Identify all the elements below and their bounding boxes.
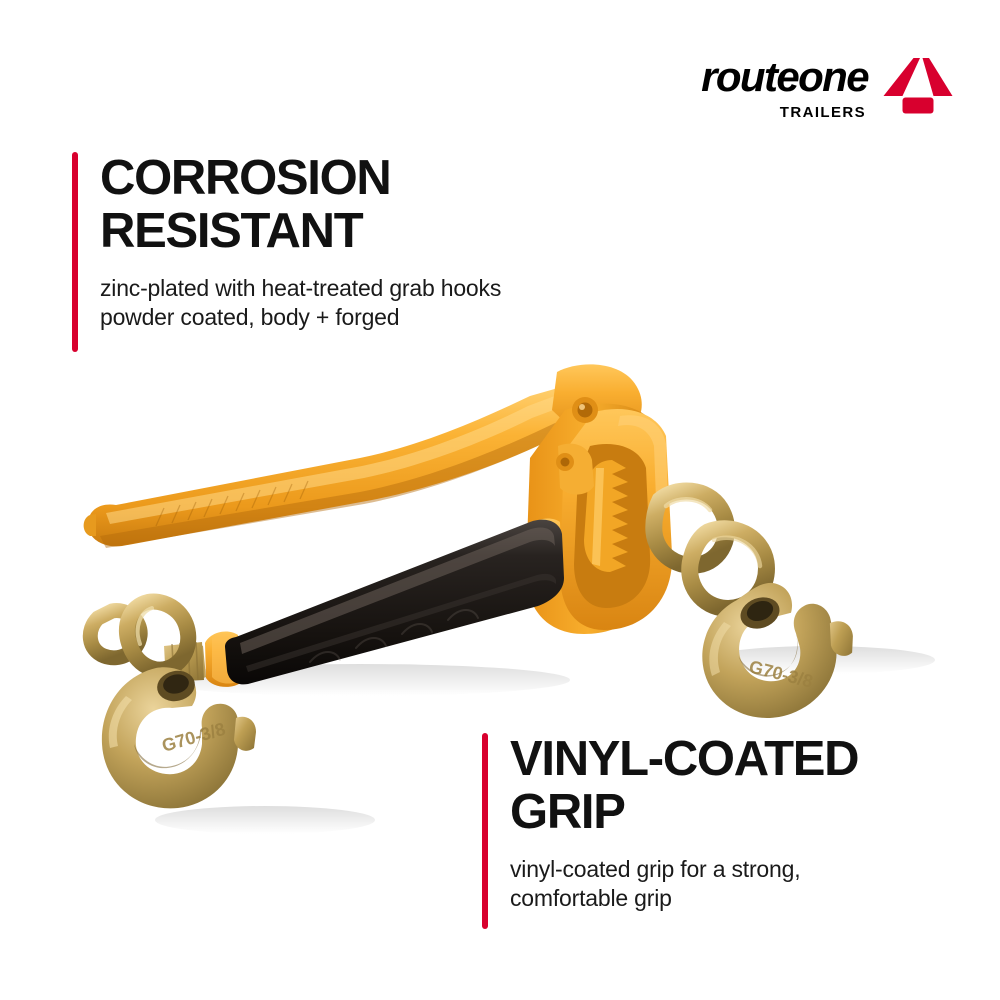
vinyl-coated-grip <box>196 520 564 687</box>
feature-description: zinc-plated with heat-treated grab hooks… <box>100 274 501 332</box>
product-image: G70-3/8 <box>60 350 950 870</box>
feature-accent-bar <box>72 152 78 352</box>
brand-logo-text: routeone TRAILERS <box>701 52 868 120</box>
lever-handle <box>84 386 580 548</box>
brand-logo: routeone TRAILERS <box>701 52 954 124</box>
chain-link <box>127 601 188 669</box>
brand-wordmark: routeone <box>701 56 868 98</box>
infographic-page: routeone TRAILERS CORROSION RESISTANT zi… <box>0 0 1000 1000</box>
routeone-trailer-a-mark-icon <box>882 52 954 124</box>
brand-tagline: TRAILERS <box>780 105 866 120</box>
feature-corrosion-resistant: CORROSION RESISTANT zinc-plated with hea… <box>72 152 501 352</box>
feature-text-block: CORROSION RESISTANT zinc-plated with hea… <box>100 152 501 352</box>
right-chain-and-hook: G70-3/8 <box>654 491 856 726</box>
feature-title: CORROSION RESISTANT <box>100 152 501 258</box>
ratchet-load-binder-illustration: G70-3/8 <box>60 350 950 870</box>
